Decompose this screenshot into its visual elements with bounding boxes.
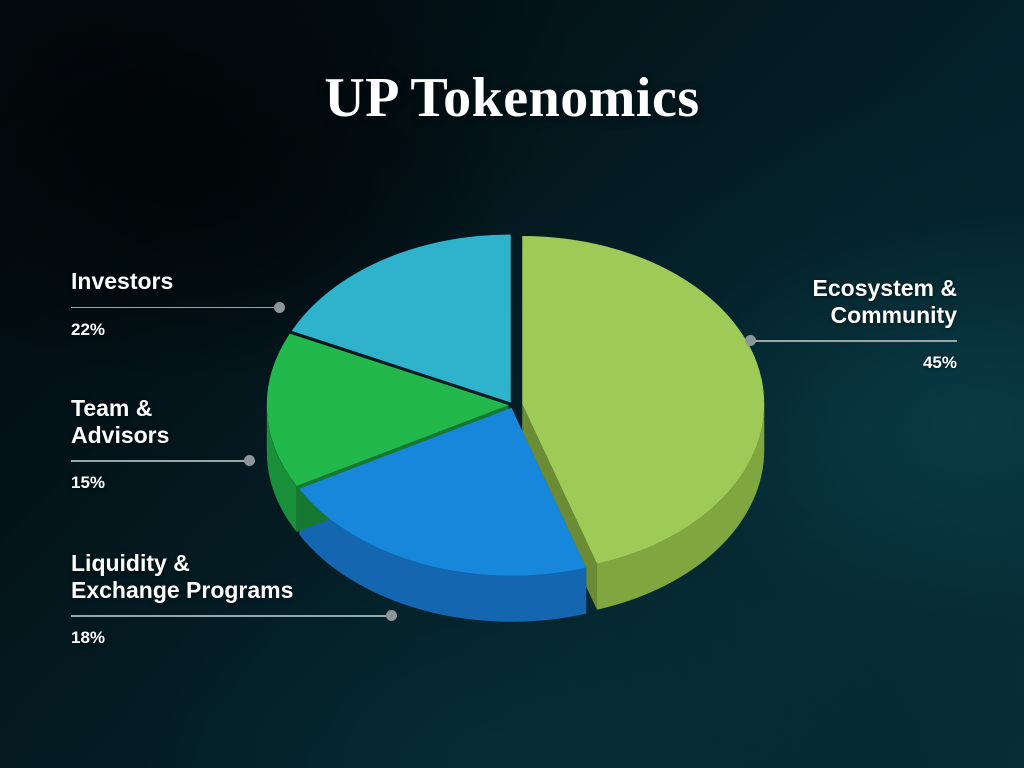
callout-ecosystem-community-label: Ecosystem & Community bbox=[745, 275, 957, 328]
leader-dot bbox=[274, 302, 285, 313]
callout-team-advisors-leader bbox=[71, 455, 255, 466]
pie-tops bbox=[267, 234, 764, 575]
callout-investors[interactable]: Investors 22% bbox=[71, 268, 285, 340]
callout-investors-leader bbox=[71, 302, 285, 313]
callout-liquidity-exchange-percent: 18% bbox=[71, 628, 397, 648]
callout-team-advisors-percent: 15% bbox=[71, 473, 255, 493]
callout-team-advisors[interactable]: Team & Advisors 15% bbox=[71, 395, 255, 493]
leader-line bbox=[71, 307, 285, 309]
callout-team-advisors-label: Team & Advisors bbox=[71, 395, 255, 448]
slide-canvas: UP Tokenomics Investors 22% Team & Advis… bbox=[0, 0, 1024, 768]
callout-ecosystem-community-leader bbox=[745, 335, 957, 346]
callout-liquidity-exchange[interactable]: Liquidity & Exchange Programs 18% bbox=[71, 550, 397, 648]
callout-ecosystem-community-percent: 45% bbox=[745, 353, 957, 373]
page-title: UP Tokenomics bbox=[0, 66, 1024, 130]
callout-liquidity-exchange-label: Liquidity & Exchange Programs bbox=[71, 550, 397, 603]
leader-line bbox=[71, 615, 397, 617]
callout-investors-label: Investors bbox=[71, 268, 285, 295]
leader-line bbox=[745, 340, 957, 342]
leader-dot bbox=[386, 610, 397, 621]
callout-liquidity-exchange-leader bbox=[71, 610, 397, 621]
callout-investors-percent: 22% bbox=[71, 320, 285, 340]
callout-ecosystem-community[interactable]: Ecosystem & Community 45% bbox=[745, 275, 957, 373]
leader-dot bbox=[244, 455, 255, 466]
leader-dot bbox=[745, 335, 756, 346]
leader-line bbox=[71, 460, 255, 462]
